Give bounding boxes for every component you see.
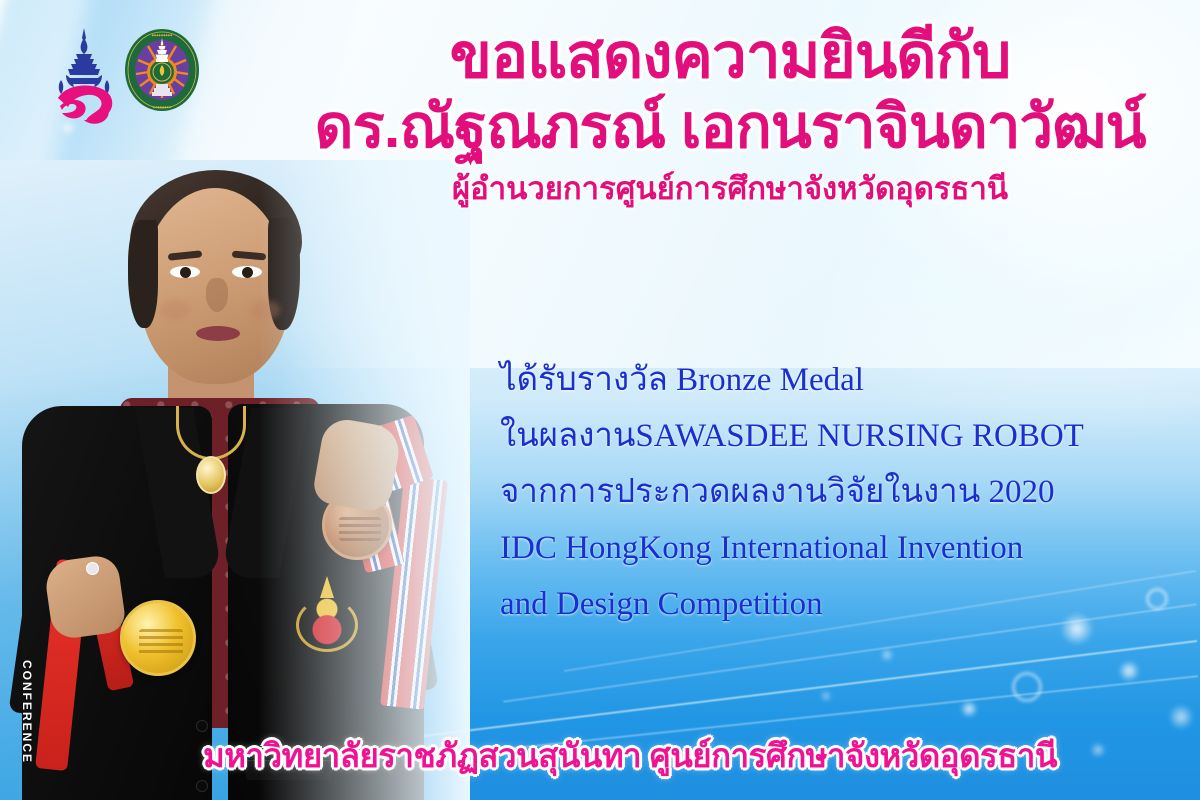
bokeh-circle-4 <box>880 648 894 662</box>
svg-text:◆◆◆◆◆◆◆◆◆: ◆◆◆◆◆◆◆◆◆ <box>152 33 173 37</box>
footer-text: มหาวิทยาลัยราชภัฏสวนสุนันทา ศูนย์การศึกษ… <box>203 737 1057 774</box>
headline-block: ขอแสดงความยินดีกับ ดร.ณัฐณภรณ์ เอกนราจิน… <box>280 24 1180 207</box>
person-name: ดร.ณัฐณภรณ์ เอกนราจินดาวัฒน์ <box>280 94 1180 160</box>
bokeh-circle-6 <box>820 690 832 702</box>
award-description-block: ได้รับรางวัล Bronze Medal ในผลงานSAWASDE… <box>500 352 1190 632</box>
bokeh-circle-5 <box>1168 704 1194 730</box>
award-line-4: IDC HongKong International Invention <box>500 520 1190 576</box>
footer-bar: มหาวิทยาลัยราชภัฏสวนสุนันทา ศูนย์การศึกษ… <box>0 729 1200 782</box>
congratulations-banner: CONFERENCE <box>0 0 1200 800</box>
bokeh-circle-2 <box>1118 660 1140 682</box>
ssru-crown-logo <box>52 28 116 128</box>
award-line-1: ได้รับรางวัล Bronze Medal <box>500 352 1190 408</box>
bokeh-ring-1 <box>1012 672 1042 702</box>
bokeh-circle-3 <box>960 700 978 718</box>
person-title: ผู้อำนวยการศูนย์การศึกษาจังหวัดอุดรธานี <box>280 170 1180 207</box>
headline-text: ขอแสดงความยินดีกับ <box>280 24 1180 90</box>
award-line-5: and Design Competition <box>500 576 1190 632</box>
svg-text:◆◆◆◆◆◆◆◆: ◆◆◆◆◆◆◆◆ <box>153 105 172 109</box>
award-recipient-photo: CONFERENCE <box>0 160 470 800</box>
logo-group: ◆◆◆◆◆◆◆◆◆ ◆◆◆◆◆◆◆◆ <box>52 28 200 128</box>
photo-edge-fade <box>0 160 470 800</box>
ssru-university-seal: ◆◆◆◆◆◆◆◆◆ ◆◆◆◆◆◆◆◆ <box>124 28 200 112</box>
ssru-thai-glyph-icon <box>54 80 116 126</box>
award-line-3: จากการประกวดผลงานวิจัยในงาน 2020 <box>500 464 1190 520</box>
award-line-2: ในผลงานSAWASDEE NURSING ROBOT <box>500 408 1190 464</box>
